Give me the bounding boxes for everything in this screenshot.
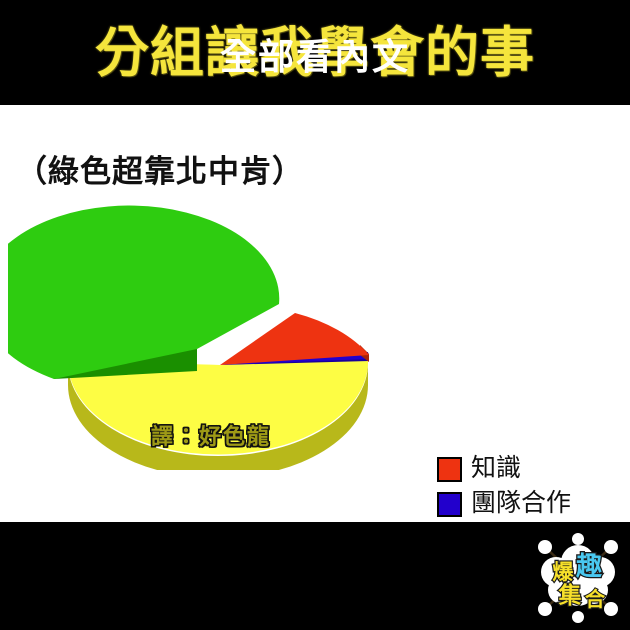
meme-image: 分組讓我學會的事 （綠色超靠北中肯） (0, 0, 630, 630)
legend-swatch-red (437, 457, 462, 482)
translator-watermark: 譯：好色龍 (151, 419, 271, 451)
chart-area: 知識 團隊合作 如何靠自己 完成整份報告 (0, 205, 630, 475)
chart-subtitle: （綠色超靠北中肯） (16, 146, 304, 191)
legend-item-teamwork[interactable]: 團隊合作 (437, 490, 627, 517)
svg-text:集: 集 (558, 582, 582, 609)
legend-swatch-blue (437, 492, 462, 517)
svg-text:合: 合 (585, 587, 606, 611)
site-logo-svg: 爆 趣 集 合 (532, 532, 624, 624)
site-logo[interactable]: 爆 趣 集 合 (532, 532, 624, 624)
svg-text:趣: 趣 (575, 552, 602, 582)
legend-item-knowledge[interactable]: 知識 (437, 455, 627, 482)
bottom-caption: 全部看內文 (0, 0, 630, 108)
legend-label-knowledge: 知識 (471, 455, 521, 482)
svg-text:爆: 爆 (553, 560, 575, 584)
legend-label-teamwork: 團隊合作 (471, 490, 571, 517)
logo-characters: 爆 趣 集 合 (553, 552, 607, 611)
pie-slice-yellow (68, 360, 368, 470)
